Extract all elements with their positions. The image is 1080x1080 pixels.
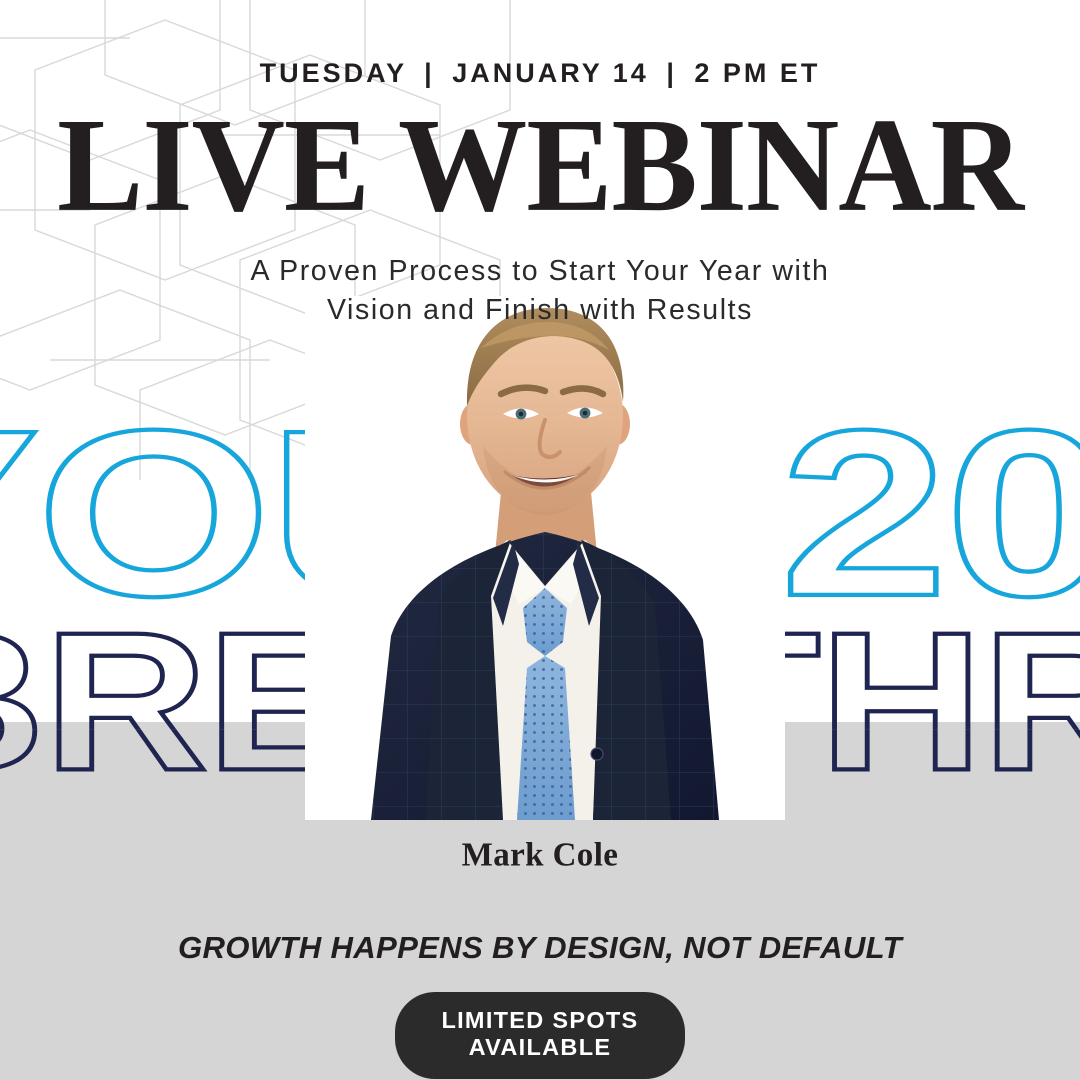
- schedule-separator-1: |: [417, 58, 442, 89]
- limited-spots-button[interactable]: LIMITED SPOTS AVAILABLE: [395, 992, 684, 1079]
- page-title: LIVE WEBINAR: [0, 101, 1080, 230]
- event-time: 2 PM ET: [694, 58, 820, 88]
- cta-line-2: AVAILABLE: [469, 1034, 612, 1060]
- subtitle-line-2: Vision and Finish with Results: [0, 291, 1080, 330]
- header-text-block: TUESDAY | JANUARY 14 | 2 PM ET LIVE WEBI…: [0, 0, 1080, 331]
- subtitle-line-1: A Proven Process to Start Your Year with: [0, 252, 1080, 291]
- event-day: TUESDAY: [260, 58, 407, 88]
- tagline: GROWTH HAPPENS BY DESIGN, NOT DEFAULT: [0, 931, 1080, 966]
- subtitle: A Proven Process to Start Your Year with…: [0, 252, 1080, 331]
- event-date: JANUARY 14: [452, 58, 649, 88]
- speaker-name: Mark Cole: [0, 836, 1080, 874]
- schedule-separator-2: |: [659, 58, 684, 89]
- cta-line-1: LIMITED SPOTS: [441, 1007, 638, 1033]
- webinar-promo-poster: TUESDAY | JANUARY 14 | 2 PM ET LIVE WEBI…: [0, 0, 1080, 1080]
- speaker-photo: [305, 296, 785, 820]
- event-schedule-line: TUESDAY | JANUARY 14 | 2 PM ET: [0, 58, 1080, 89]
- lower-content-block: Mark Cole GROWTH HAPPENS BY DESIGN, NOT …: [0, 820, 1080, 1079]
